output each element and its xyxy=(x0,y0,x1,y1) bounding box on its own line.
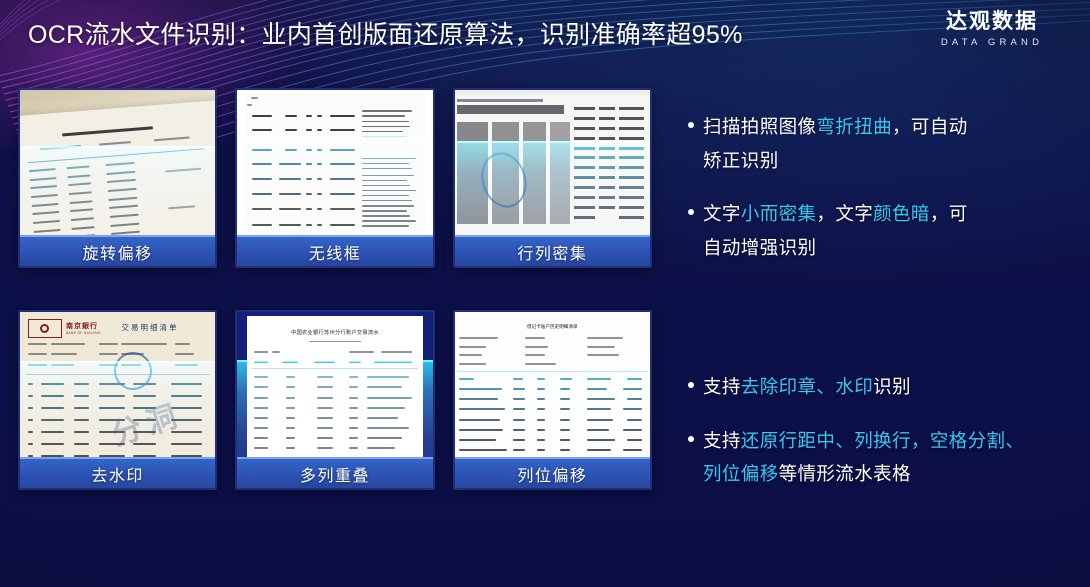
bullet-text: 支持还原行距中、列换行，空格分割、列位偏移等情形流水表格 xyxy=(703,424,1024,491)
thumbnail-card-multicolumn[interactable]: 中国农业银行苏州分行账户交易流水 xyxy=(235,310,434,490)
thumbnail-caption: 列位偏移 xyxy=(455,457,650,488)
thumbnail-card-borderless[interactable]: 无线框 xyxy=(235,88,434,268)
thumbnail-caption: 行列密集 xyxy=(455,235,650,266)
bullet-dot-icon xyxy=(688,436,694,442)
thumbnail-card-watermark[interactable]: 南京銀行 BANK OF NANJING 交易明细清单 xyxy=(18,310,217,490)
bullet-group-bottom: 支持去除印章、水印识别 支持还原行距中、列换行，空格分割、列位偏移等情形流水表格 xyxy=(688,370,1074,511)
statement-title: 交易明细清单 xyxy=(121,322,178,333)
thumbnail-card-dense[interactable]: 行列密集 xyxy=(453,88,652,268)
bullet-dot-icon xyxy=(688,382,694,388)
bullet-group-top: 扫描拍照图像弯折扭曲，可自动矫正识别 文字小而密集，文字颜色暗，可自动增强识别 xyxy=(688,110,1074,285)
thumbnail-caption: 多列重叠 xyxy=(237,457,432,488)
thumbnail-grid: 旋转偏移 xyxy=(18,88,652,490)
thumbnail-card-rotated[interactable]: 旋转偏移 xyxy=(18,88,217,268)
page-title: OCR流水文件识别：业内首创版面还原算法，识别准确率超95% xyxy=(28,15,743,51)
logo-chinese-name: 达观数据 xyxy=(916,10,1068,34)
bullet-text: 支持去除印章、水印识别 xyxy=(703,370,911,404)
thumbnail-caption: 去水印 xyxy=(20,457,215,488)
statement-title: 借记卡账户历史明细清单 xyxy=(503,324,601,330)
bullet-text: 文字小而密集，文字颜色暗，可自动增强识别 xyxy=(703,197,968,264)
bullet-dot-icon xyxy=(688,209,694,215)
logo-english-name: DATA GRAND xyxy=(916,37,1068,48)
thumbnail-row-top: 旋转偏移 xyxy=(18,88,652,268)
bullet-item: 支持去除印章、水印识别 xyxy=(688,370,1074,404)
bullet-dot-icon xyxy=(688,122,694,128)
thumbnail-caption: 无线框 xyxy=(237,235,432,266)
thumbnail-card-shifted[interactable]: 借记卡账户历史明细清单 xyxy=(453,310,652,490)
brand-logo: 达观数据 DATA GRAND xyxy=(916,10,1068,48)
bullet-item: 扫描拍照图像弯折扭曲，可自动矫正识别 xyxy=(688,110,1074,177)
thumbnail-caption: 旋转偏移 xyxy=(20,235,215,266)
thumbnail-row-bottom: 南京銀行 BANK OF NANJING 交易明细清单 xyxy=(18,310,652,490)
bullet-item: 文字小而密集，文字颜色暗，可自动增强识别 xyxy=(688,197,1074,264)
bank-logo-icon xyxy=(28,319,62,338)
statement-title: 中国农业银行苏州分行账户交易流水 xyxy=(268,329,402,336)
bank-name-text: 南京銀行 BANK OF NANJING xyxy=(66,321,101,335)
slide-body: 旋转偏移 xyxy=(0,68,1090,587)
bullet-text: 扫描拍照图像弯折扭曲，可自动矫正识别 xyxy=(703,110,968,177)
bullet-item: 支持还原行距中、列换行，空格分割、列位偏移等情形流水表格 xyxy=(688,424,1074,491)
slide-header: OCR流水文件识别：业内首创版面还原算法，识别准确率超95% 达观数据 DATA… xyxy=(0,0,1090,68)
